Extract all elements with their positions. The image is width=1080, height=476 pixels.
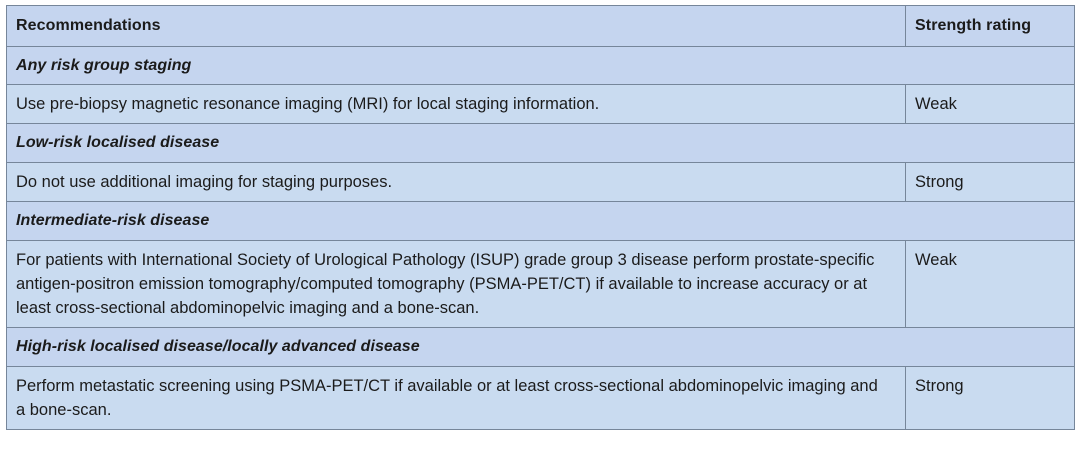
table-body: Any risk group staging Use pre-biopsy ma… — [7, 46, 1075, 430]
recommendation-text: Perform metastatic screening using PSMA-… — [7, 366, 906, 430]
table-row: Use pre-biopsy magnetic resonance imagin… — [7, 85, 1075, 124]
section-heading-high-risk-localised-disease: High-risk localised disease/locally adva… — [7, 328, 1075, 367]
strength-rating-value: Strong — [906, 366, 1075, 430]
recommendations-table: Recommendations Strength rating Any risk… — [6, 5, 1075, 430]
column-header-recommendations: Recommendations — [7, 6, 906, 47]
section-heading-any-risk-group-staging: Any risk group staging — [7, 46, 1075, 85]
strength-rating-value: Strong — [906, 162, 1075, 201]
table-head: Recommendations Strength rating — [7, 6, 1075, 47]
section-header-row-any-risk-group-staging: Any risk group staging — [7, 46, 1075, 85]
recommendation-text: For patients with International Society … — [7, 240, 906, 328]
recommendation-text: Use pre-biopsy magnetic resonance imagin… — [7, 85, 906, 124]
strength-rating-value: Weak — [906, 85, 1075, 124]
strength-rating-value: Weak — [906, 240, 1075, 328]
section-header-row-intermediate-risk-disease: Intermediate-risk disease — [7, 202, 1075, 241]
section-heading-intermediate-risk-disease: Intermediate-risk disease — [7, 202, 1075, 241]
section-header-row-high-risk-localised-disease: High-risk localised disease/locally adva… — [7, 328, 1075, 367]
table-row: Perform metastatic screening using PSMA-… — [7, 366, 1075, 430]
column-header-strength-rating: Strength rating — [906, 6, 1075, 47]
table-header-row: Recommendations Strength rating — [7, 6, 1075, 47]
recommendation-text: Do not use additional imaging for stagin… — [7, 162, 906, 201]
section-heading-low-risk-localised-disease: Low-risk localised disease — [7, 124, 1075, 163]
guideline-table-container: Recommendations Strength rating Any risk… — [0, 0, 1080, 476]
section-header-row-low-risk-localised-disease: Low-risk localised disease — [7, 124, 1075, 163]
table-row: For patients with International Society … — [7, 240, 1075, 328]
table-row: Do not use additional imaging for stagin… — [7, 162, 1075, 201]
